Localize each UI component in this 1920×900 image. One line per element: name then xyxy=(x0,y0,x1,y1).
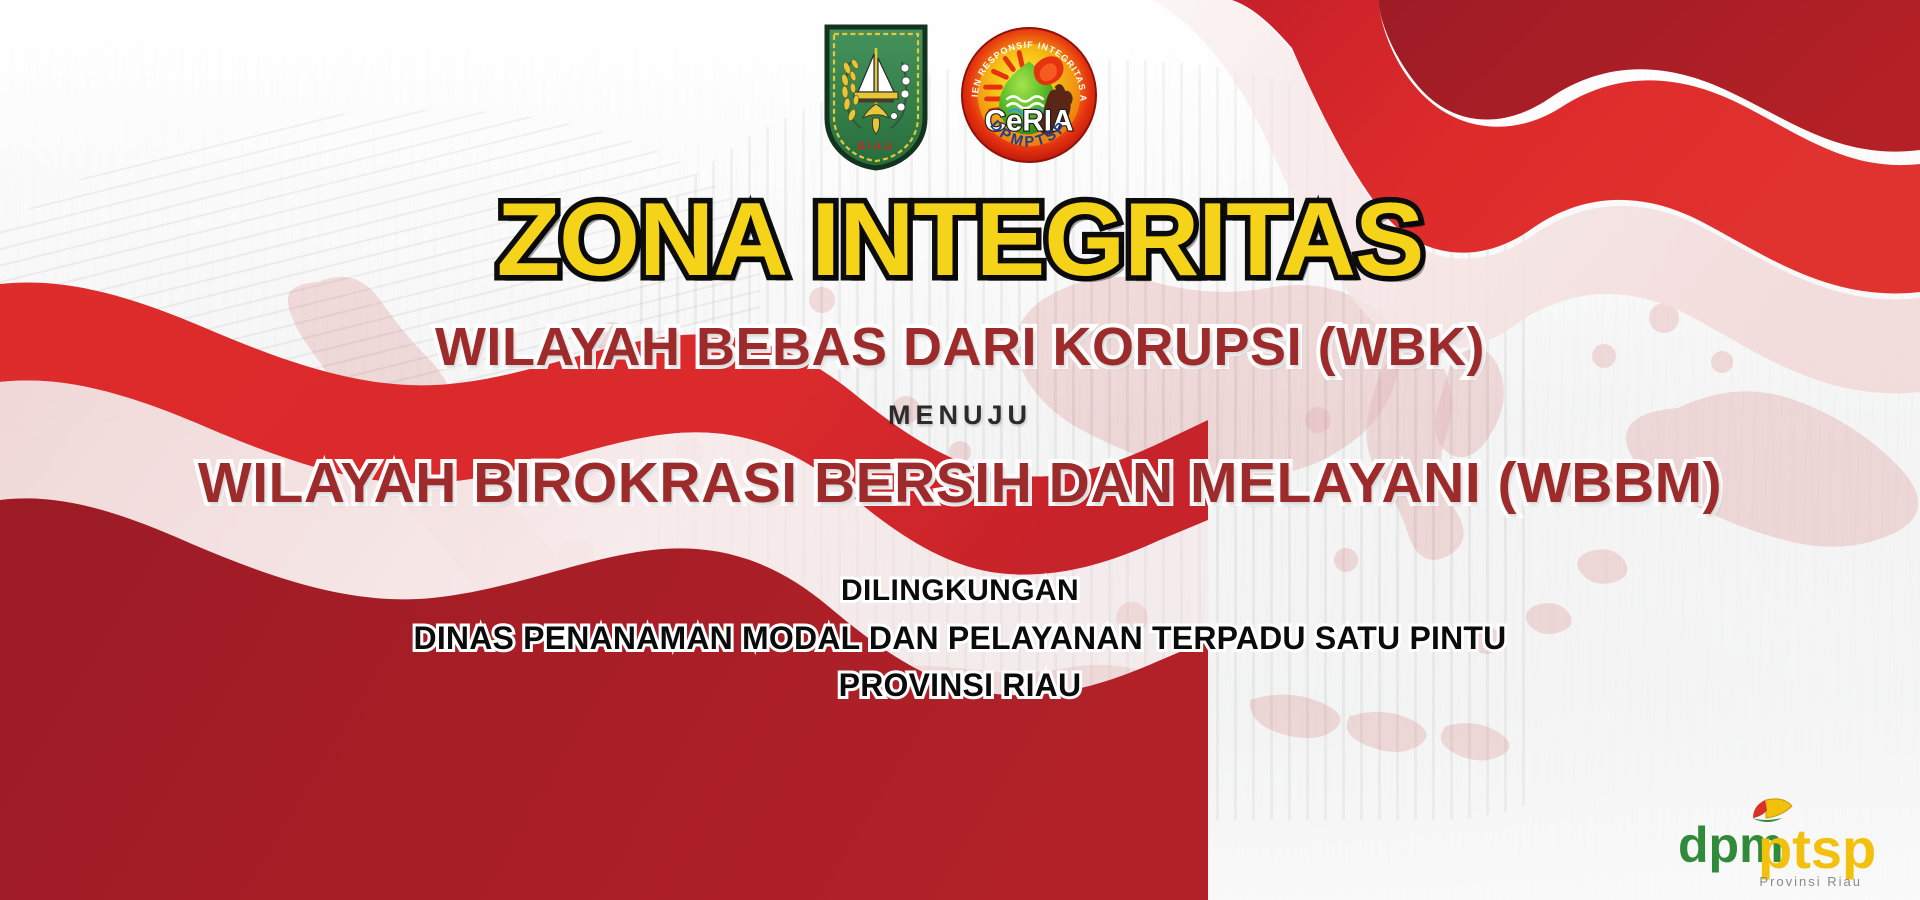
banner-scope-label: DILINGKUNGAN xyxy=(0,574,1920,608)
zona-integritas-banner: RIAU xyxy=(0,0,1920,900)
banner-subtitle-wbbm: WILAYAH BIROKRASI BERSIH DAN MELAYANI (W… xyxy=(0,455,1920,512)
banner-title: ZONA INTEGRITAS xyxy=(0,188,1920,292)
dpmptsp-part-ptsp: ptsp xyxy=(1758,817,1876,880)
banner-org-name: DINAS PENANAMAN MODAL DAN PELAYANAN TERP… xyxy=(0,620,1920,657)
dpmptsp-tagline: Provinsi Riau xyxy=(1759,874,1862,889)
banner-text-block: ZONA INTEGRITAS WILAYAH BEBAS DARI KORUP… xyxy=(0,0,1920,704)
banner-org-region: PROVINSI RIAU xyxy=(0,667,1920,704)
banner-subtitle-wbk: WILAYAH BEBAS DARI KORUPSI (WBK) xyxy=(0,320,1920,374)
dpmptsp-wordmark-icon: dpm ptsp Provinsi Riau xyxy=(1666,788,1898,892)
banner-connector: MENUJU xyxy=(0,400,1920,431)
